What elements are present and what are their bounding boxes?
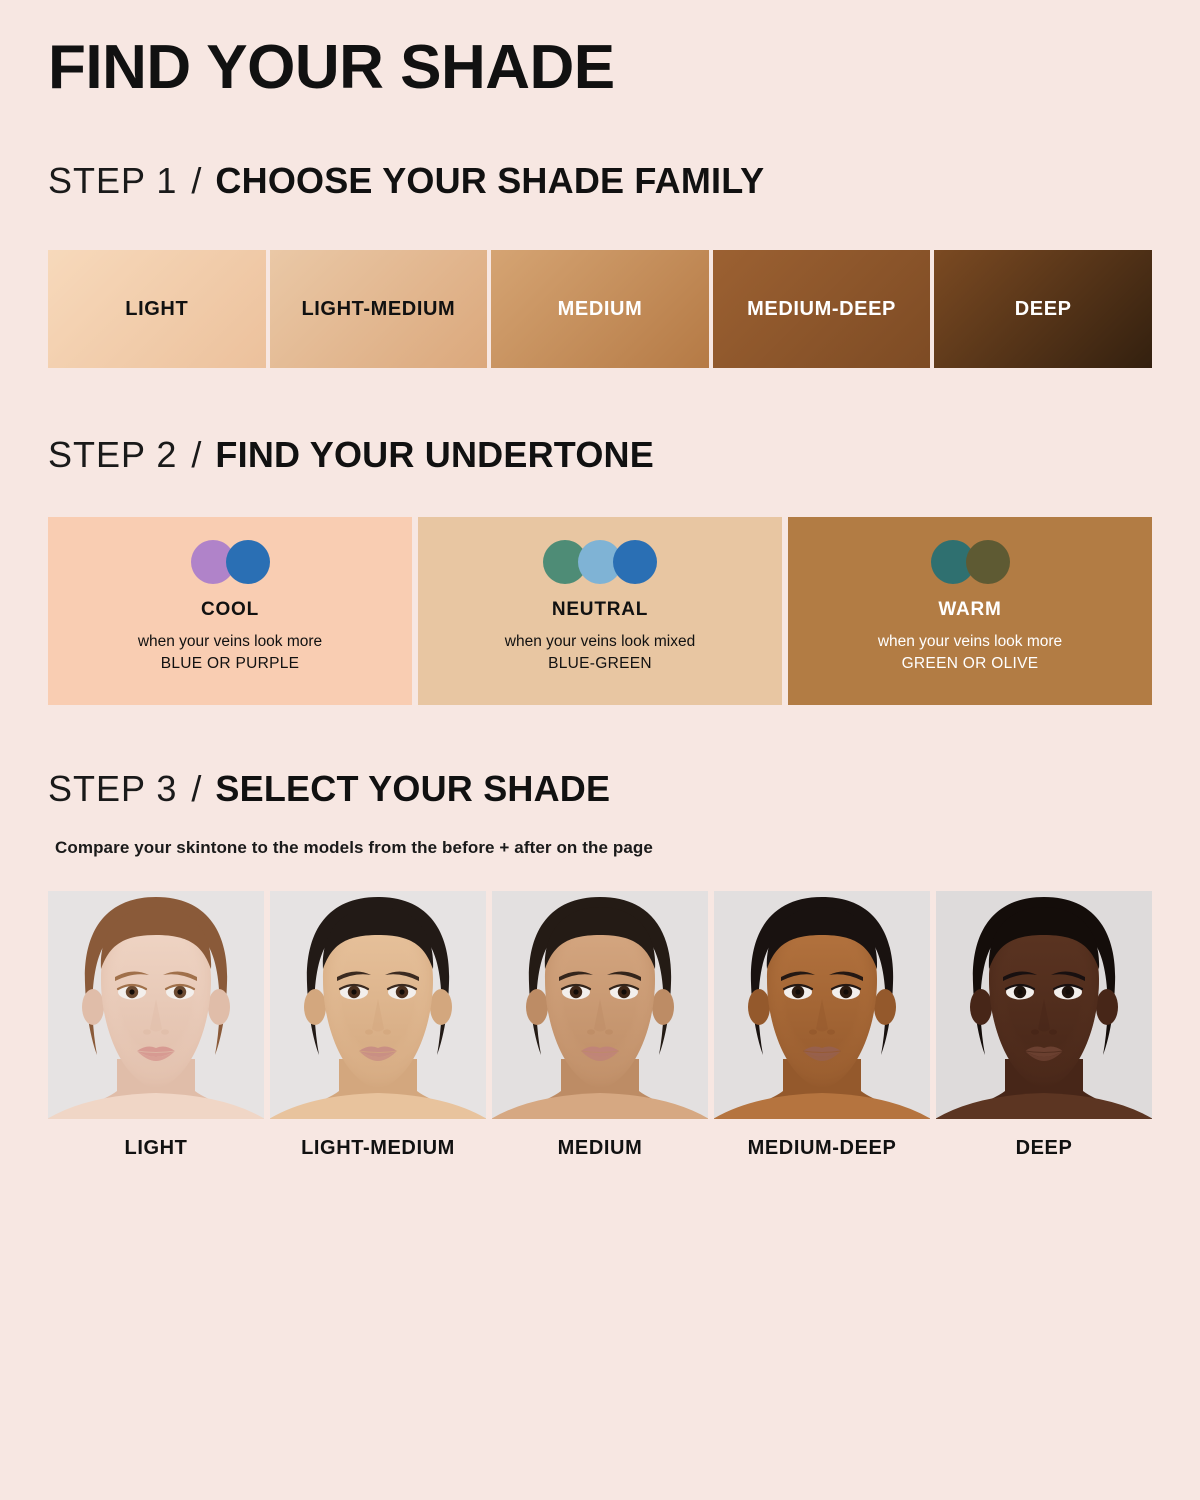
undertone-card-warm[interactable]: WARMwhen your veins look moreGREEN OR OL… xyxy=(788,517,1152,705)
undertone-dot-group xyxy=(931,539,1010,585)
undertone-emphasis: BLUE-GREEN xyxy=(548,653,652,675)
shade-swatch-light[interactable]: LIGHT xyxy=(48,250,266,368)
undertone-name: COOL xyxy=(201,599,259,621)
step-2-title: FIND YOUR UNDERTONE xyxy=(215,434,654,476)
shade-swatch-label: LIGHT xyxy=(125,298,188,321)
model-label: MEDIUM-DEEP xyxy=(714,1123,930,1160)
step-1-number: STEP 1 xyxy=(48,160,177,202)
undertone-description: when your veins look more xyxy=(138,631,322,653)
step-1-separator: / xyxy=(191,160,201,202)
shade-swatch-medium[interactable]: MEDIUM xyxy=(491,250,709,368)
shade-swatch-deep[interactable]: DEEP xyxy=(934,250,1152,368)
model-label: DEEP xyxy=(936,1123,1152,1160)
undertone-dot-blue-icon xyxy=(226,540,270,584)
shade-swatch-light-medium[interactable]: LIGHT-MEDIUM xyxy=(270,250,488,368)
model-face-svg xyxy=(48,891,264,1119)
model-label: MEDIUM xyxy=(492,1123,708,1160)
model-face-svg xyxy=(492,891,708,1119)
undertone-description: when your veins look more xyxy=(878,631,1062,653)
model-face-svg xyxy=(714,891,930,1119)
model-label: LIGHT xyxy=(48,1123,264,1160)
shade-family-bar: LIGHTLIGHT-MEDIUMMEDIUMMEDIUM-DEEPDEEP xyxy=(48,250,1152,368)
model-face-svg xyxy=(936,891,1152,1119)
undertone-card-neutral[interactable]: NEUTRALwhen your veins look mixedBLUE-GR… xyxy=(418,517,782,705)
step-3-separator: / xyxy=(191,768,201,810)
step-2-number: STEP 2 xyxy=(48,434,177,476)
step-3-heading: STEP 3 / SELECT YOUR SHADE xyxy=(48,768,610,810)
model-photo-medium[interactable] xyxy=(492,891,708,1119)
model-photo-light[interactable] xyxy=(48,891,264,1119)
model-label-row: LIGHTLIGHT-MEDIUMMEDIUMMEDIUM-DEEPDEEP xyxy=(48,1123,1152,1160)
undertone-name: WARM xyxy=(938,599,1001,621)
step-3-number: STEP 3 xyxy=(48,768,177,810)
model-photo-medium-deep[interactable] xyxy=(714,891,930,1119)
model-photo-deep[interactable] xyxy=(936,891,1152,1119)
step-2-separator: / xyxy=(191,434,201,476)
undertone-emphasis: BLUE OR PURPLE xyxy=(161,653,300,675)
model-label: LIGHT-MEDIUM xyxy=(270,1123,486,1160)
undertone-description: when your veins look mixed xyxy=(505,631,695,653)
model-face-svg xyxy=(270,891,486,1119)
model-photo-light-medium[interactable] xyxy=(270,891,486,1119)
step-2-heading: STEP 2 / FIND YOUR UNDERTONE xyxy=(48,434,654,476)
undertone-emphasis: GREEN OR OLIVE xyxy=(902,653,1039,675)
page-title: FIND YOUR SHADE xyxy=(48,34,615,102)
shade-swatch-label: LIGHT-MEDIUM xyxy=(301,298,455,321)
step-1-title: CHOOSE YOUR SHADE FAMILY xyxy=(215,160,764,202)
step-1-heading: STEP 1 / CHOOSE YOUR SHADE FAMILY xyxy=(48,160,764,202)
undertone-card-cool[interactable]: COOLwhen your veins look moreBLUE OR PUR… xyxy=(48,517,412,705)
step-3-title: SELECT YOUR SHADE xyxy=(215,768,610,810)
model-photo-row xyxy=(48,891,1152,1119)
undertone-name: NEUTRAL xyxy=(552,599,648,621)
shade-swatch-label: MEDIUM-DEEP xyxy=(747,298,896,321)
undertone-dot-group xyxy=(543,539,657,585)
shade-swatch-label: MEDIUM xyxy=(558,298,643,321)
undertone-dot-olive-icon xyxy=(966,540,1010,584)
find-your-shade-page: FIND YOUR SHADE STEP 1 / CHOOSE YOUR SHA… xyxy=(0,0,1200,1500)
undertone-dot-blue-icon xyxy=(613,540,657,584)
shade-swatch-medium-deep[interactable]: MEDIUM-DEEP xyxy=(713,250,931,368)
step-3-subtitle: Compare your skintone to the models from… xyxy=(55,838,653,858)
shade-swatch-label: DEEP xyxy=(1015,298,1072,321)
undertone-card-row: COOLwhen your veins look moreBLUE OR PUR… xyxy=(48,517,1152,705)
undertone-dot-group xyxy=(191,539,270,585)
